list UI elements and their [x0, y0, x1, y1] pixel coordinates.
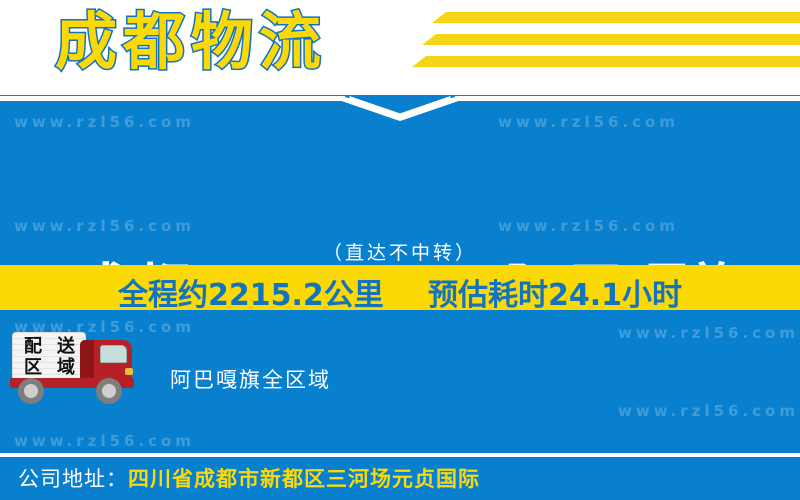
truck-headlight: [125, 368, 133, 375]
watermark: www.rzl56.com: [618, 402, 799, 420]
truck-wheel-front: [96, 378, 122, 404]
watermark: www.rzl56.com: [14, 432, 195, 450]
route-banner: www.rzl56.com www.rzl56.com www.rzl56.co…: [0, 95, 800, 265]
footer-divider: [0, 453, 800, 457]
stripe-3: [412, 56, 800, 67]
header-band: 成都物流: [0, 0, 800, 95]
address-value: 四川省成都市新都区三河场元贞国际: [128, 467, 480, 491]
truck-box-char-3: 区: [17, 357, 50, 378]
direct-shipping-note: （直达不中转）: [0, 238, 800, 265]
watermark: www.rzl56.com: [14, 113, 195, 131]
stripe-2: [422, 34, 800, 45]
delivery-region-text: 阿巴嘎旗全区域: [170, 364, 331, 394]
company-address: 公司地址：四川省成都市新都区三河场元贞国际: [18, 463, 480, 493]
address-label: 公司地址：: [18, 467, 128, 491]
truck-box-label: 配 送 区 域: [17, 335, 83, 379]
watermark: www.rzl56.com: [14, 217, 195, 235]
watermark: www.rzl56.com: [498, 113, 679, 131]
decorative-stripes: [400, 12, 800, 74]
duration-value: 预估耗时24.1小时: [428, 270, 682, 314]
watermark: www.rzl56.com: [498, 217, 679, 235]
watermark: www.rzl56.com: [618, 324, 799, 342]
top-rule-left: [0, 96, 345, 101]
delivery-truck-icon: 配 送 区 域: [8, 330, 148, 400]
chevron-down-icon: [340, 95, 460, 121]
trip-info-band: 全程约2215.2公里 预估耗时24.1小时: [0, 265, 800, 310]
truck-box-char-2: 送: [50, 336, 83, 357]
page-title: 成都物流: [55, 4, 327, 80]
truck-box-char-4: 域: [50, 357, 83, 378]
stripe-1: [432, 12, 800, 23]
truck-window: [100, 345, 127, 363]
distance-value: 全程约2215.2公里: [118, 270, 384, 314]
truck-cargo-box: 配 送 区 域: [12, 332, 86, 380]
truck-box-char-1: 配: [17, 336, 50, 357]
top-rule-right: [455, 96, 800, 101]
truck-wheel-rear: [18, 378, 44, 404]
truck-cab-shade: [80, 340, 94, 382]
logistics-poster: 成都物流 www.rzl56.com www.rzl56.com www.rzl…: [0, 0, 800, 500]
